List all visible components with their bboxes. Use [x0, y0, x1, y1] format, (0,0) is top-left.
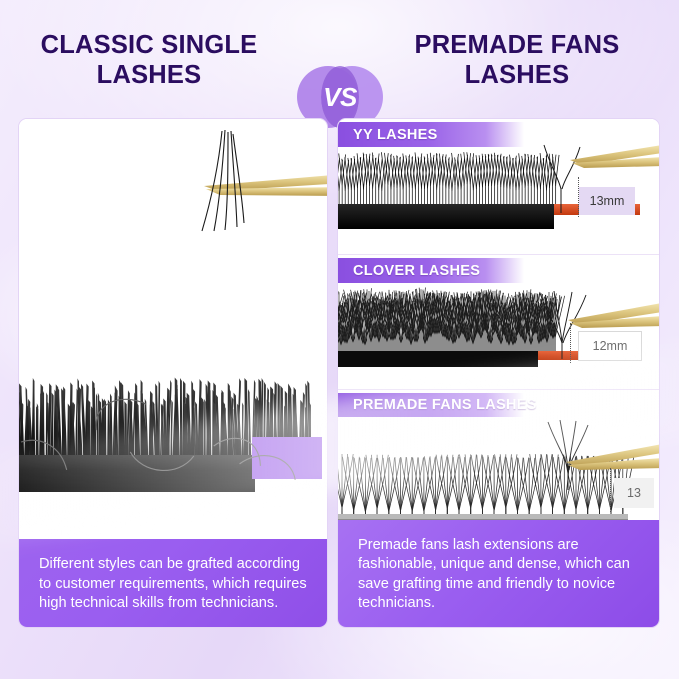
left-panel: Different styles can be grafted accordin… — [18, 118, 328, 628]
section-banner-yy: YY LASHES — [338, 122, 659, 147]
measurement-label-clover: 12mm — [578, 331, 642, 361]
tweezers-icon — [566, 444, 659, 478]
section-premade-fans: PREMADE FANS LASHES — [338, 389, 659, 528]
tweezers-icon — [570, 145, 659, 175]
section-label-yy: YY LASHES — [338, 127, 438, 143]
right-panel-image: YY LASHES — [338, 119, 659, 528]
right-panel: YY LASHES — [337, 118, 660, 628]
single-lash-strands — [192, 127, 252, 237]
right-title: PREMADE FANS LASHES — [382, 30, 652, 90]
clover-measure-line — [570, 323, 571, 363]
header: CLASSIC SINGLE LASHES VS PREMADE FANS LA… — [0, 30, 679, 108]
left-title: CLASSIC SINGLE LASHES — [14, 30, 284, 90]
left-panel-image — [19, 119, 327, 518]
section-clover-lashes: CLOVER LASHES — [338, 254, 659, 390]
left-caption: Different styles can be grafted accordin… — [19, 539, 327, 627]
measurement-label-yy: 13mm — [579, 187, 635, 215]
infographic-canvas: CLASSIC SINGLE LASHES VS PREMADE FANS LA… — [0, 0, 679, 679]
premade-measure-line — [610, 468, 611, 512]
measurement-label-premade: 13 — [614, 478, 654, 508]
section-yy-lashes: YY LASHES — [338, 119, 659, 254]
right-caption: Premade fans lash extensions are fashion… — [338, 520, 659, 627]
scattered-lashes — [19, 374, 327, 514]
section-banner-premade: PREMADE FANS LASHES — [338, 393, 659, 417]
section-label-premade: PREMADE FANS LASHES — [338, 397, 537, 413]
section-label-clover: CLOVER LASHES — [338, 263, 480, 279]
section-banner-clover: CLOVER LASHES — [338, 258, 659, 283]
